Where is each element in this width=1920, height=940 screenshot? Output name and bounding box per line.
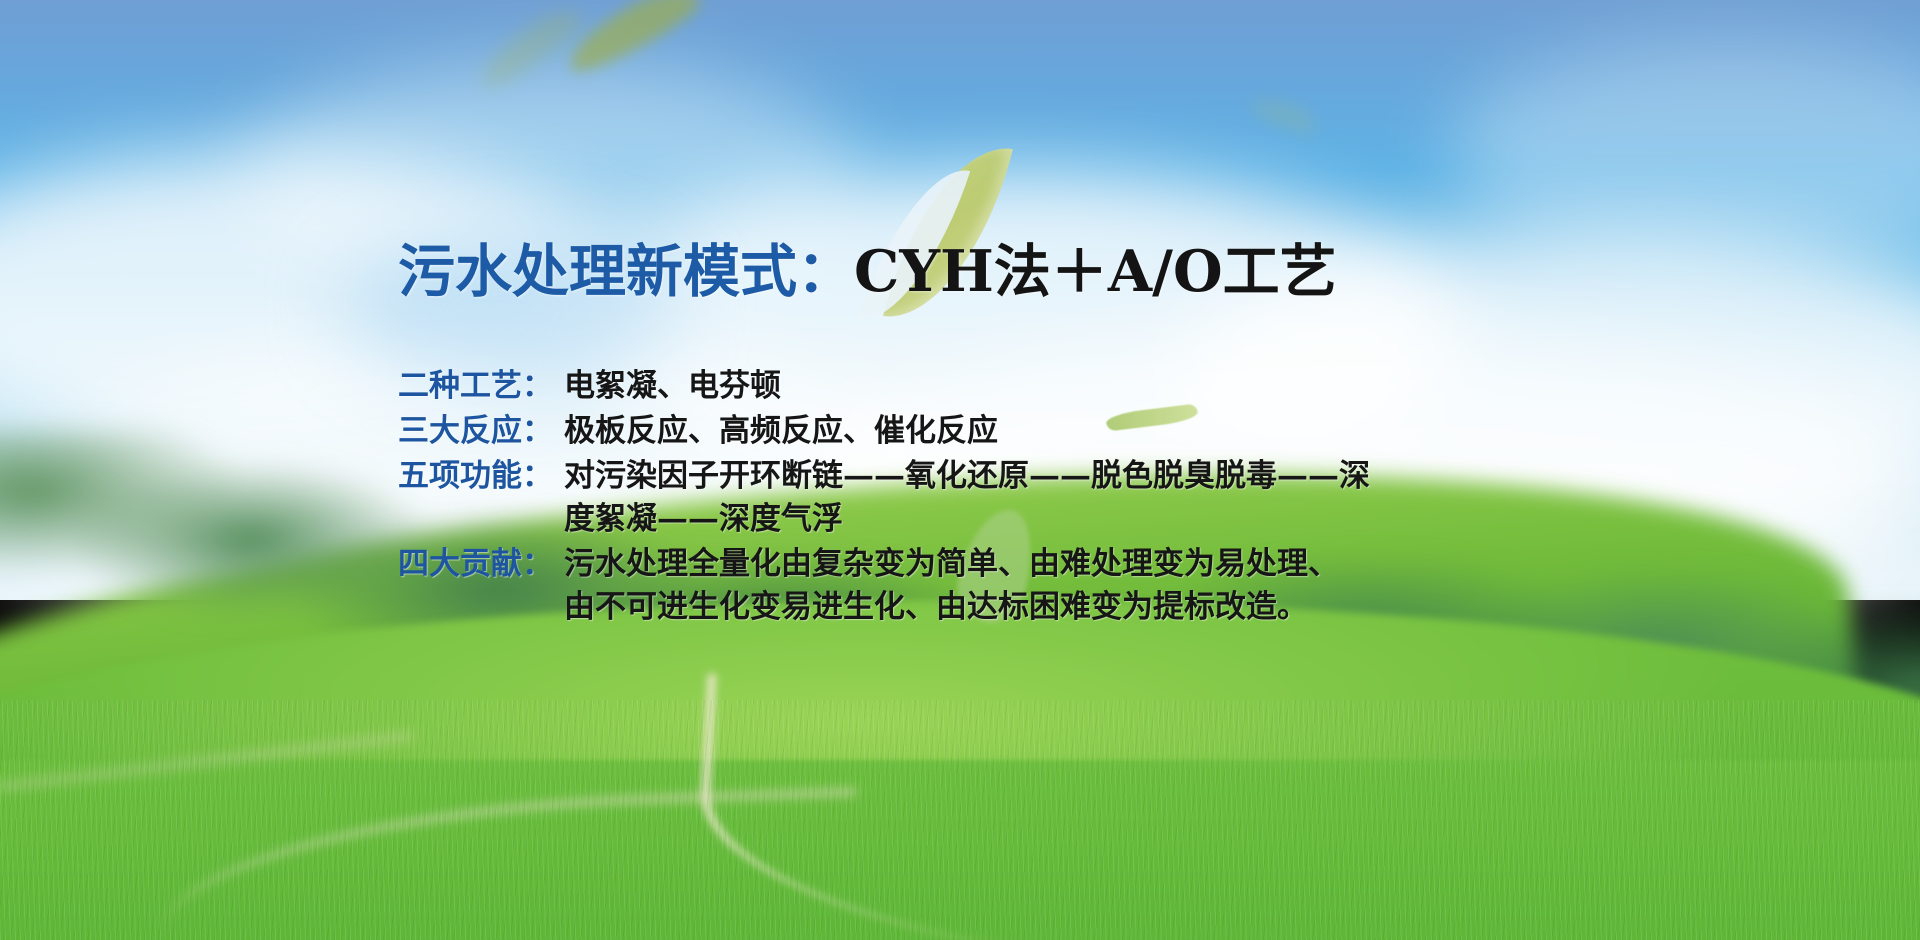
- list-item-line: 度絮凝——深度气浮: [564, 498, 1370, 541]
- list-item-line: 极板反应、高频反应、催化反应: [564, 410, 998, 453]
- list-item-value: 污水处理全量化由复杂变为简单、由难处理变为易处理、 由不可进生化变易进生化、由达…: [564, 543, 1339, 629]
- list-item: 三大反应： 极板反应、高频反应、催化反应: [398, 410, 1370, 453]
- list-item-label: 二种工艺：: [398, 365, 564, 408]
- list-item-line: 由不可进生化变易进生化、由达标困难变为提标改造。: [564, 586, 1339, 629]
- slide-content: 污水处理新模式：CYH法＋A/O工艺 二种工艺： 电絮凝、电芬顿 三大反应： 极…: [0, 0, 1920, 940]
- list-item-line: 对污染因子开环断链——氧化还原——脱色脱臭脱毒——深: [564, 455, 1370, 498]
- list-item-label: 三大反应：: [398, 410, 564, 453]
- list-item: 四大贡献： 污水处理全量化由复杂变为简单、由难处理变为易处理、 由不可进生化变易…: [398, 543, 1370, 629]
- page-title-value: CYH法＋A/O工艺: [854, 238, 1337, 305]
- page-title: 污水处理新模式：CYH法＋A/O工艺: [398, 243, 1337, 301]
- list-item-value: 极板反应、高频反应、催化反应: [564, 410, 998, 453]
- detail-list: 二种工艺： 电絮凝、电芬顿 三大反应： 极板反应、高频反应、催化反应 五项功能：…: [398, 365, 1370, 629]
- list-item-line: 电絮凝、电芬顿: [564, 365, 781, 408]
- list-item-line: 污水处理全量化由复杂变为简单、由难处理变为易处理、: [564, 543, 1339, 586]
- page-title-label: 污水处理新模式：: [398, 238, 854, 305]
- list-item-label: 四大贡献：: [398, 543, 564, 586]
- list-item: 二种工艺： 电絮凝、电芬顿: [398, 365, 1370, 408]
- list-item-value: 电絮凝、电芬顿: [564, 365, 781, 408]
- slide-canvas: 污水处理新模式：CYH法＋A/O工艺 二种工艺： 电絮凝、电芬顿 三大反应： 极…: [0, 0, 1920, 940]
- list-item-value: 对污染因子开环断链——氧化还原——脱色脱臭脱毒——深 度絮凝——深度气浮: [564, 455, 1370, 541]
- list-item-label: 五项功能：: [398, 455, 564, 498]
- list-item: 五项功能： 对污染因子开环断链——氧化还原——脱色脱臭脱毒——深 度絮凝——深度…: [398, 455, 1370, 541]
